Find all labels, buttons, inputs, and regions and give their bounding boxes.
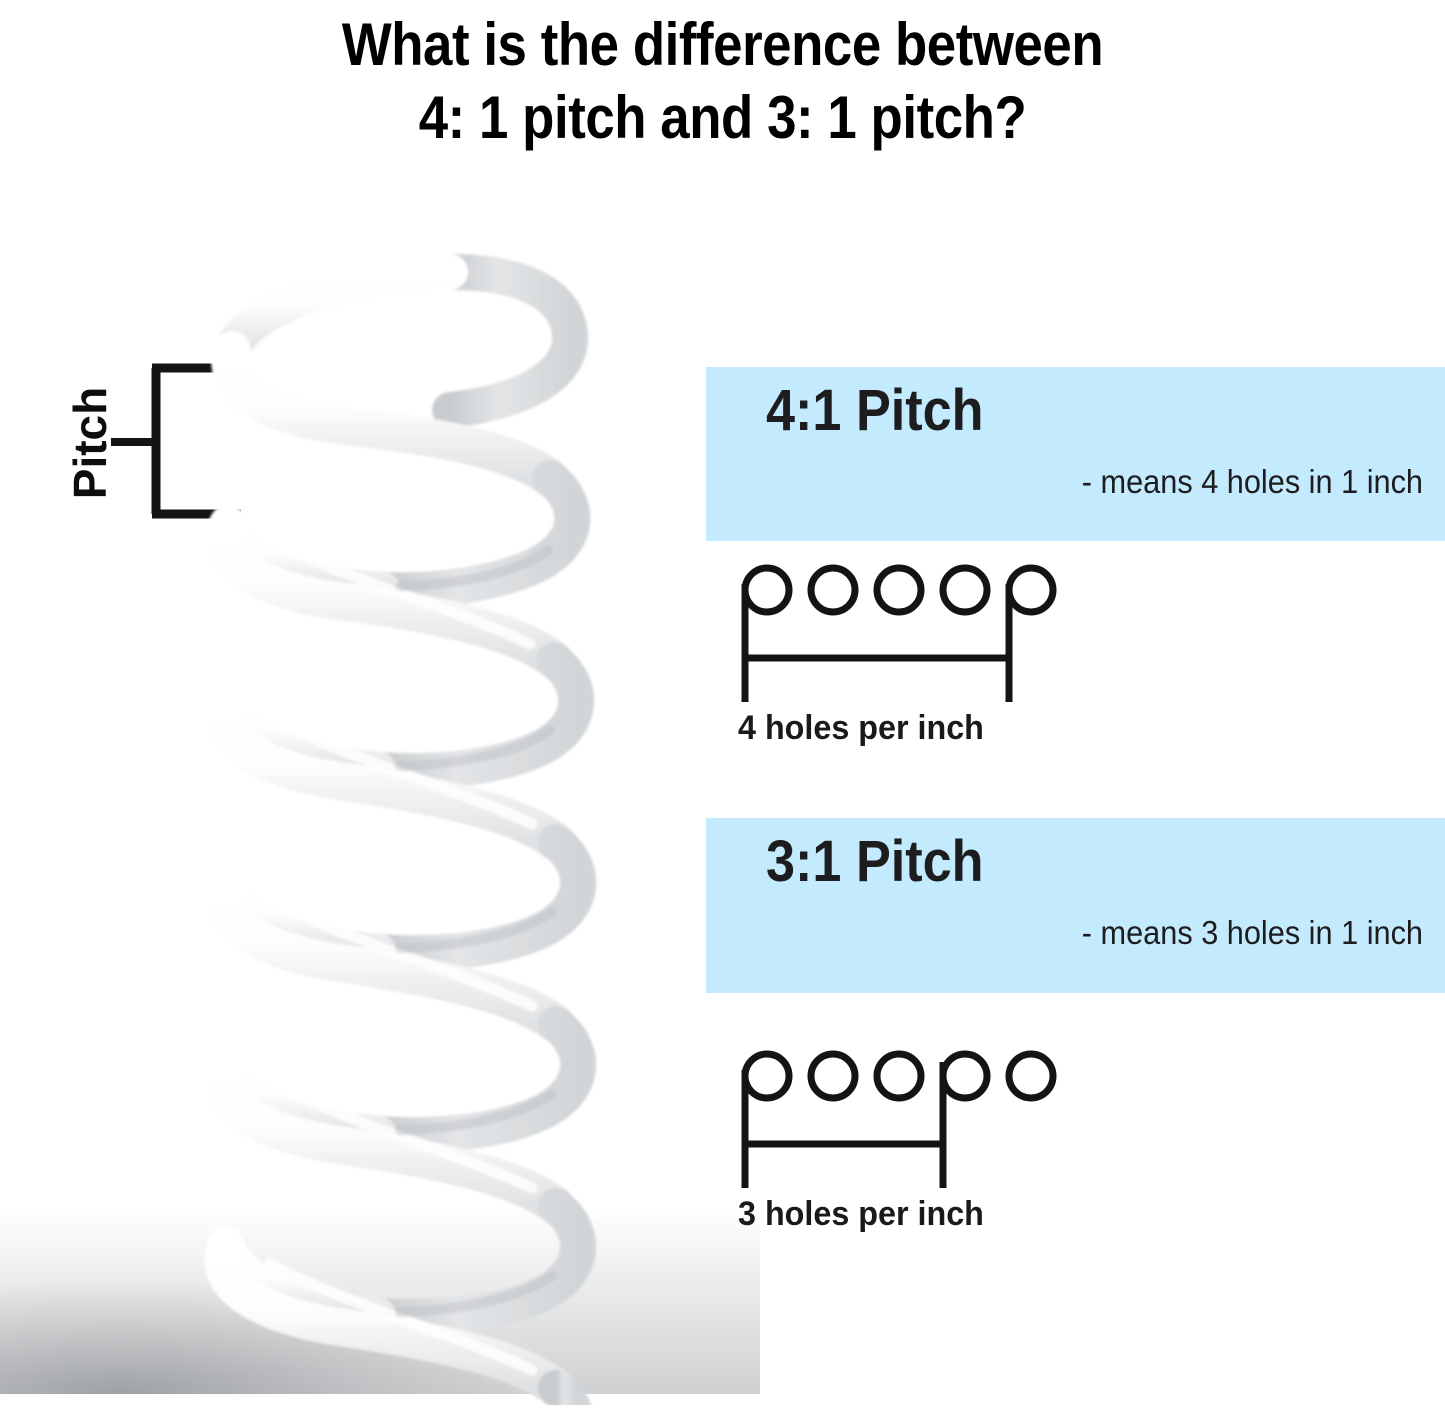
pitch-label-text: Pitch: [63, 387, 117, 499]
page-title: What is the difference between 4: 1 pitc…: [87, 8, 1359, 154]
holes-diagram-4-1: 4 holes per inch: [736, 562, 1136, 748]
callout-heading-3-1: 3:1 Pitch: [766, 832, 1357, 891]
hole-circle: [877, 1054, 921, 1098]
callout-heading-4-1: 4:1 Pitch: [766, 381, 1357, 440]
holes-diagram-3-1: 3 holes per inch: [736, 1048, 1136, 1234]
callout-pitch-3-1: 3:1 Pitch - means 3 holes in 1 inch: [706, 818, 1445, 993]
callout-subtitle-3-1: - means 3 holes in 1 inch: [812, 915, 1423, 951]
hole-circle: [811, 1054, 855, 1098]
holes-diagram-3-1-svg: [736, 1048, 1066, 1193]
hole-circle: [1009, 568, 1053, 612]
title-line-2: 4: 1 pitch and 3: 1 pitch?: [87, 81, 1359, 154]
holes-caption-4-1: 4 holes per inch: [738, 709, 1116, 748]
holes-diagram-4-1-svg: [736, 562, 1066, 707]
holes-caption-3-1: 3 holes per inch: [738, 1195, 1116, 1234]
spiral-coil-svg: [150, 240, 620, 1405]
callout-pitch-4-1: 4:1 Pitch - means 4 holes in 1 inch: [706, 367, 1445, 541]
hole-circle: [745, 568, 789, 612]
spiral-coil-image: [150, 240, 620, 1400]
hole-circle: [943, 568, 987, 612]
hole-circle: [1009, 1054, 1053, 1098]
title-line-1: What is the difference between: [87, 8, 1359, 81]
hole-circle: [943, 1054, 987, 1098]
hole-circle: [877, 568, 921, 612]
callout-subtitle-4-1: - means 4 holes in 1 inch: [812, 464, 1423, 500]
hole-circle: [811, 568, 855, 612]
hole-circle: [745, 1054, 789, 1098]
